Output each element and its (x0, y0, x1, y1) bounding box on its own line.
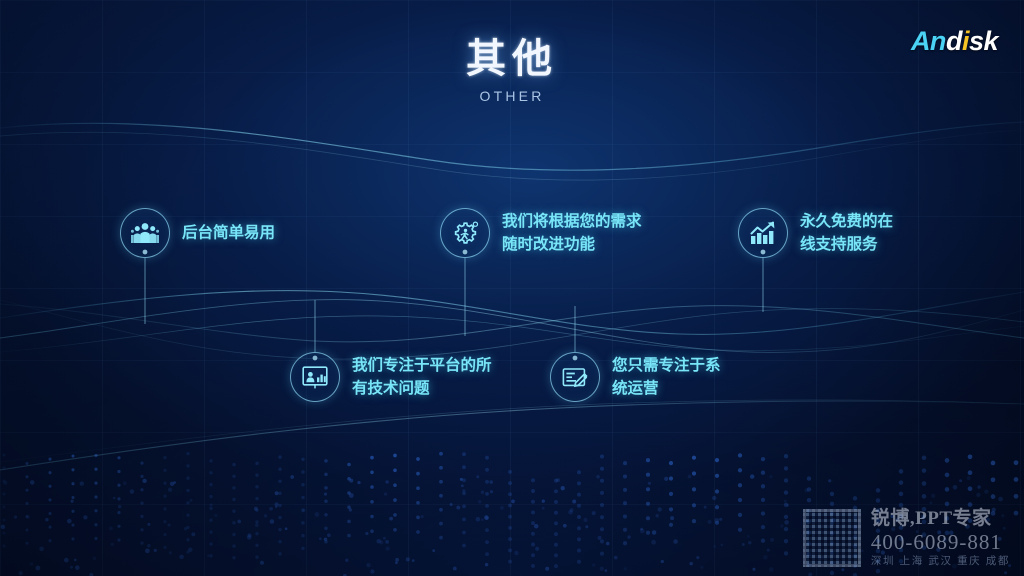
node-connectors (0, 0, 1024, 576)
feature-label: 我们专注于平台的所 有技术问题 (352, 354, 542, 401)
logo-part-d: d (946, 26, 962, 56)
feature-node-free-online-support[interactable]: 永久免费的在 线支持服务 (738, 208, 968, 258)
document-edit-icon (561, 365, 589, 390)
page-title: 其他 (0, 36, 1024, 82)
gear-person-icon (451, 219, 480, 248)
watermark-cities: 深圳 上海 武汉 重庆 成都 (871, 556, 1010, 568)
feature-label: 我们将根据您的需求 随时改进功能 (502, 210, 692, 257)
feature-node-easy-admin[interactable]: 后台简单易用 (120, 208, 350, 258)
feature-icon-circle (120, 208, 170, 258)
feature-node-technical-issues[interactable]: 我们专注于平台的所 有技术问题 (290, 352, 550, 402)
watermark-brand: 锐博,PPT专家 (871, 508, 1010, 529)
watermark-text: 锐博,PPT专家 400-6089-881 深圳 上海 武汉 重庆 成都 (871, 508, 1010, 568)
logo-part-i: i (962, 26, 969, 56)
feature-node-system-operation[interactable]: 您只需专注于系 统运营 (550, 352, 780, 402)
feature-icon-circle (440, 208, 490, 258)
slide-header: 其他 OTHER (0, 36, 1024, 104)
watermark-phone: 400-6089-881 (871, 531, 1010, 555)
feature-label: 永久免费的在 线支持服务 (800, 210, 990, 257)
feature-icon-circle (550, 352, 600, 402)
growth-chart-icon (749, 220, 777, 246)
feature-label: 您只需专注于系 统运营 (612, 354, 802, 401)
qr-code-icon (803, 509, 861, 567)
background-waves (0, 0, 1024, 576)
slide-canvas: 其他 OTHER Andisk (0, 0, 1024, 576)
presentation-board-icon (301, 364, 329, 390)
feature-label: 后台简单易用 (182, 221, 275, 244)
brand-logo: Andisk (911, 28, 998, 55)
feature-icon-circle (290, 352, 340, 402)
dot-wave-field (0, 0, 1024, 576)
feature-node-improve-on-demand[interactable]: 我们将根据您的需求 随时改进功能 (440, 208, 700, 258)
background-grid (0, 0, 1024, 576)
people-group-icon (131, 221, 159, 245)
page-subtitle: OTHER (0, 88, 1024, 104)
logo-part-an: An (911, 26, 946, 56)
feature-icon-circle (738, 208, 788, 258)
vignette-overlay (0, 0, 1024, 576)
watermark: 锐博,PPT专家 400-6089-881 深圳 上海 武汉 重庆 成都 (803, 508, 1010, 568)
logo-part-sk: sk (969, 26, 998, 56)
